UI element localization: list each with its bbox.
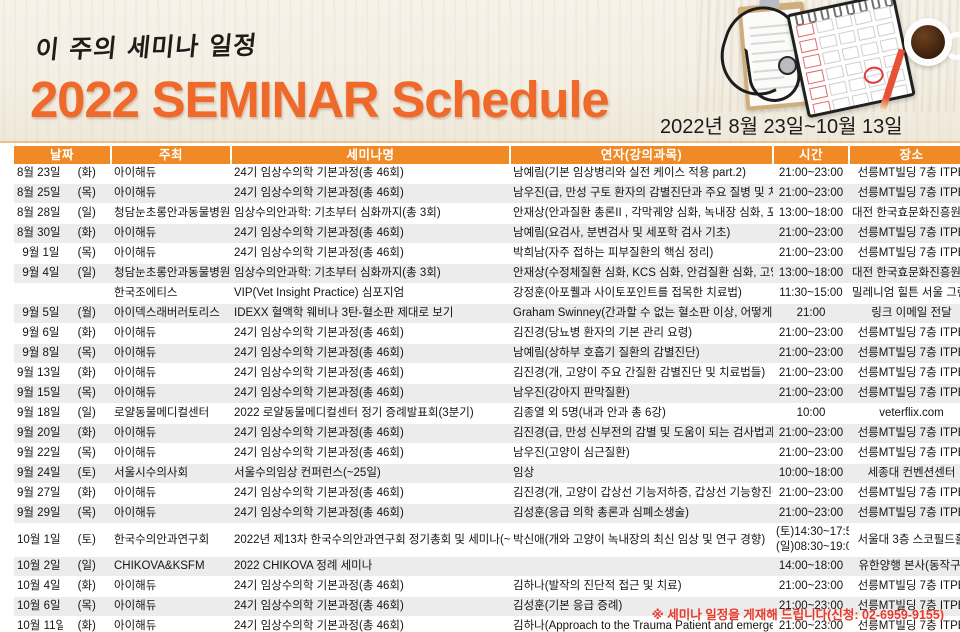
cell-seminar-name: 24기 임상수의학 기본과정(총 46회) (231, 424, 510, 444)
col-header-host: 주최 (111, 146, 231, 164)
cell-time: 21:00~23:00 (773, 364, 849, 384)
cell-seminar-name: 24기 임상수의학 기본과정(총 46회) (231, 364, 510, 384)
cell-place: 선릉MT빌딩 7층 ITPE (849, 504, 960, 524)
cell-seminar-name: 24기 임상수의학 기본과정(총 46회) (231, 184, 510, 204)
cell-day-of-week: (일) (63, 404, 112, 424)
cell-day-of-week: (목) (63, 344, 112, 364)
cell-date: 10월 6일 (14, 597, 63, 617)
cell-time: 21:00~23:00 (773, 184, 849, 204)
cell-time: 21:00~23:00 (773, 424, 849, 444)
table-header-row: 날짜 주최 세미나명 연자(강의과목) 시간 장소 문의 (14, 146, 960, 164)
table-row[interactable]: 9월 22일(목)아이해듀24기 임상수의학 기본과정(총 46회)남우진(고양… (14, 444, 960, 464)
cell-date: 9월 6일 (14, 324, 63, 344)
cell-place: 선릉MT빌딩 7층 ITPE (849, 164, 960, 184)
cell-place: 선릉MT빌딩 7층 ITPE (849, 484, 960, 504)
cell-seminar-name: 24기 임상수의학 기본과정(총 46회) (231, 444, 510, 464)
page-banner: 이 주의 세미나 일정 2022 SEMINAR Schedule 2022년 … (0, 0, 960, 143)
cell-date: 9월 24일 (14, 464, 63, 484)
cell-host: 아이해듀 (111, 384, 231, 404)
cell-seminar-name: 2022년 제13차 한국수의안과연구회 정기총회 및 세미나(~2일) (231, 524, 510, 557)
cell-place: 유한양행 본사(동작구) (849, 557, 960, 577)
cell-host: 아이덱스래버러토리스 (111, 304, 231, 324)
cell-host: 아이해듀 (111, 364, 231, 384)
cell-day-of-week: (목) (63, 504, 112, 524)
cell-seminar-name: 24기 임상수의학 기본과정(총 46회) (231, 617, 510, 632)
cell-day-of-week: (목) (63, 597, 112, 617)
cell-seminar-name: 24기 임상수의학 기본과정(총 46회) (231, 597, 510, 617)
cell-date: 8월 23일 (14, 164, 63, 184)
cell-date: 9월 4일 (14, 264, 63, 284)
cell-time: 21:00~23:00 (773, 504, 849, 524)
col-header-time: 시간 (773, 146, 849, 164)
col-header-lecturer: 연자(강의과목) (510, 146, 773, 164)
cell-host: 아이해듀 (111, 484, 231, 504)
cell-lecturer: 임상 (510, 464, 773, 484)
cup-handle (944, 32, 960, 60)
cell-host: 아이해듀 (111, 344, 231, 364)
cell-place: 선릉MT빌딩 7층 ITPE (849, 444, 960, 464)
cell-place: 선릉MT빌딩 7층 ITPE (849, 364, 960, 384)
cell-place: 선릉MT빌딩 7층 ITPE (849, 424, 960, 444)
cell-seminar-name: 24기 임상수의학 기본과정(총 46회) (231, 484, 510, 504)
cell-date: 9월 13일 (14, 364, 63, 384)
cell-seminar-name: 24기 임상수의학 기본과정(총 46회) (231, 224, 510, 244)
cell-lecturer: 남예림(기본 임상병리와 실전 케이스 적용 part.2) (510, 164, 773, 184)
cell-place: 밀레니엄 힐튼 서울 그랜드볼룸 (849, 284, 960, 304)
table-row[interactable]: 9월 8일(목)아이해듀24기 임상수의학 기본과정(총 46회)남예림(상하부… (14, 344, 960, 364)
cell-seminar-name: 24기 임상수의학 기본과정(총 46회) (231, 344, 510, 364)
cell-time: 11:30~15:00 (773, 284, 849, 304)
cell-seminar-name: 2022 로얄동물메디컬센터 정기 증례발표회(3분기) (231, 404, 510, 424)
cell-time: 21:00~23:00 (773, 224, 849, 244)
cell-date: 10월 4일 (14, 577, 63, 597)
cell-lecturer: 남우진(고양이 심근질환) (510, 444, 773, 464)
cell-host: 청담눈초롱안과동물병원 (111, 264, 231, 284)
table-row[interactable]: 8월 25일(목)아이해듀24기 임상수의학 기본과정(총 46회)남우진(급,… (14, 184, 960, 204)
cell-day-of-week: (화) (63, 164, 112, 184)
cell-date: 8월 30일 (14, 224, 63, 244)
cell-lecturer: 김진경(당뇨병 환자의 기본 관리 요령) (510, 324, 773, 344)
page-title: 2022 SEMINAR Schedule (30, 70, 609, 129)
cell-lecturer: 남우진(급, 만성 구토 환자의 감별진단과 주요 질병 및 치료법들) (510, 184, 773, 204)
cell-lecturer: 남예림(상하부 호흡기 질환의 감별진단) (510, 344, 773, 364)
cell-seminar-name: 24기 임상수의학 기본과정(총 46회) (231, 384, 510, 404)
table-row[interactable]: 9월 6일(화)아이해듀24기 임상수의학 기본과정(총 46회)김진경(당뇨병… (14, 324, 960, 344)
cell-day-of-week: (화) (63, 617, 112, 632)
cell-host: 아이해듀 (111, 504, 231, 524)
table-row[interactable]: 8월 23일(화)아이해듀24기 임상수의학 기본과정(총 46회)남예림(기본… (14, 164, 960, 184)
cell-date: 9월 1일 (14, 244, 63, 264)
cell-date: 9월 22일 (14, 444, 63, 464)
cell-seminar-name: 24기 임상수의학 기본과정(총 46회) (231, 324, 510, 344)
cell-place: 링크 이메일 전달 (849, 304, 960, 324)
cell-time: 10:00~18:00 (773, 464, 849, 484)
cell-place: veterflix.com (849, 404, 960, 424)
table-row[interactable]: 9월 24일(토)서울시수의사회서울수의임상 컨퍼런스(~25일)임상10:00… (14, 464, 960, 484)
cell-host: 아이해듀 (111, 617, 231, 632)
cell-date: 9월 20일 (14, 424, 63, 444)
cell-seminar-name: VIP(Vet Insight Practice) 심포지엄 (231, 284, 510, 304)
cell-place: 선릉MT빌딩 7층 ITPE (849, 224, 960, 244)
cell-seminar-name: 24기 임상수의학 기본과정(총 46회) (231, 244, 510, 264)
cell-seminar-name: 임상수의안과학: 기초부터 심화까지(총 3회) (231, 204, 510, 224)
cell-day-of-week: (일) (63, 204, 112, 224)
cell-lecturer: 김진경(급, 만성 신부전의 감별 및 도움이 되는 검사법과 관리 요령) (510, 424, 773, 444)
cell-time: 13:00~18:00 (773, 204, 849, 224)
cell-date: 8월 25일 (14, 184, 63, 204)
coffee-liquid (911, 25, 945, 59)
cell-day-of-week: (월) (63, 304, 112, 324)
cell-day-of-week: (화) (63, 224, 112, 244)
cell-host: 아이해듀 (111, 424, 231, 444)
cell-day-of-week: (일) (63, 557, 112, 577)
cell-place: 세종대 컨벤션센터 (849, 464, 960, 484)
cell-day-of-week: (목) (63, 444, 112, 464)
cell-time: 21:00~23:00 (773, 444, 849, 464)
cell-place: 서울대 3층 스코필드홀 (849, 524, 960, 557)
schedule-table: 날짜 주최 세미나명 연자(강의과목) 시간 장소 문의 8월 23일(화)아이… (14, 146, 960, 632)
cell-time: 21:00~23:00 (773, 577, 849, 597)
cell-time: 13:00~18:00 (773, 264, 849, 284)
cell-time: 21:00~23:00 (773, 324, 849, 344)
table-row[interactable]: 한국조에티스VIP(Vet Insight Practice) 심포지엄강정훈(… (14, 284, 960, 304)
cell-host: 로얄동물메디컬센터 (111, 404, 231, 424)
cell-host: 아이해듀 (111, 224, 231, 244)
cell-lecturer: Graham Swinney(간과할 수 없는 혈소판 이상, 어떻게 진료할까… (510, 304, 773, 324)
cell-day-of-week: (화) (63, 484, 112, 504)
cell-day-of-week: (일) (63, 264, 112, 284)
cell-lecturer (510, 557, 773, 577)
cell-date: 10월 1일 (14, 524, 63, 557)
cell-host: 서울시수의사회 (111, 464, 231, 484)
cell-seminar-name: 24기 임상수의학 기본과정(총 46회) (231, 164, 510, 184)
cell-host: 아이해듀 (111, 164, 231, 184)
table-row[interactable]: 9월 29일(목)아이해듀24기 임상수의학 기본과정(총 46회)김성훈(응급… (14, 504, 960, 524)
cell-seminar-name: 24기 임상수의학 기본과정(총 46회) (231, 577, 510, 597)
cell-place: 선릉MT빌딩 7층 ITPE (849, 184, 960, 204)
cell-lecturer: 박신애(개와 고양이 녹내장의 최신 임상 및 연구 경향) (510, 524, 773, 557)
table-row[interactable]: 9월 18일(일)로얄동물메디컬센터2022 로얄동물메디컬센터 정기 증례발표… (14, 404, 960, 424)
cell-host: 아이해듀 (111, 244, 231, 264)
table-row[interactable]: 8월 30일(화)아이해듀24기 임상수의학 기본과정(총 46회)남예림(요검… (14, 224, 960, 244)
cell-time: 21:00~23:00 (773, 484, 849, 504)
cell-seminar-name: IDEXX 혈액학 웨비나 3탄-혈소판 제대로 보기 (231, 304, 510, 324)
cell-host: 한국수의안과연구회 (111, 524, 231, 557)
cell-day-of-week: (토) (63, 524, 112, 557)
col-header-place: 장소 (849, 146, 960, 164)
cell-date: 9월 27일 (14, 484, 63, 504)
cell-place: 대전 한국효문화진흥원 별관 2층 (849, 264, 960, 284)
cell-seminar-name: 24기 임상수의학 기본과정(총 46회) (231, 504, 510, 524)
table-row[interactable]: 10월 2일(일)CHIKOVA&KSFM2022 CHIKOVA 정례 세미나… (14, 557, 960, 577)
cell-lecturer: 안재상(안과질환 총론II , 각막궤양 심화, 녹내장 심화, 포도막염 심화… (510, 204, 773, 224)
cell-time: 14:00~18:00 (773, 557, 849, 577)
cell-place: 선릉MT빌딩 7층 ITPE (849, 384, 960, 404)
cell-lecturer: 강정훈(아포퀠과 사이토포인트를 접목한 치료법) (510, 284, 773, 304)
coffee-cup-icon (904, 18, 952, 66)
date-range-label: 2022년 8월 23일~10월 13일 (660, 110, 903, 139)
cell-lecturer: 김성훈(응급 의학 총론과 심폐소생술) (510, 504, 773, 524)
cell-day-of-week: (목) (63, 184, 112, 204)
cell-lecturer: 김진경(개, 고양이 갑상선 기능저하증, 갑상선 기능항진증) (510, 484, 773, 504)
cell-seminar-name: 2022 CHIKOVA 정례 세미나 (231, 557, 510, 577)
table-row[interactable]: 9월 15일(목)아이해듀24기 임상수의학 기본과정(총 46회)남우진(강아… (14, 384, 960, 404)
cell-day-of-week: (화) (63, 364, 112, 384)
table-row[interactable]: 9월 4일(일)청담눈초롱안과동물병원임상수의안과학: 기초부터 심화까지(총 … (14, 264, 960, 284)
table-row[interactable]: 9월 13일(화)아이해듀24기 임상수의학 기본과정(총 46회)김진경(개,… (14, 364, 960, 384)
cell-date: 8월 28일 (14, 204, 63, 224)
table-row[interactable]: 10월 4일(화)아이해듀24기 임상수의학 기본과정(총 46회)김하나(발작… (14, 577, 960, 597)
cell-lecturer: 김종열 외 5명(내과 안과 총 6강) (510, 404, 773, 424)
cell-host: 아이해듀 (111, 597, 231, 617)
cell-lecturer: 안재상(수정체질환 심화, KCS 심화, 안검질환 심화, 고양이 안과학) (510, 264, 773, 284)
table-row[interactable]: 9월 20일(화)아이해듀24기 임상수의학 기본과정(총 46회)김진경(급,… (14, 424, 960, 444)
table-row[interactable]: 10월 1일(토)한국수의안과연구회2022년 제13차 한국수의안과연구회 정… (14, 524, 960, 557)
cell-day-of-week: (목) (63, 244, 112, 264)
cell-time: 21:00~23:00 (773, 244, 849, 264)
cell-place: 대전 한국효문화진흥원 별관 2층 (849, 204, 960, 224)
cell-date: 9월 15일 (14, 384, 63, 404)
seminar-schedule-page: 이 주의 세미나 일정 2022 SEMINAR Schedule 2022년 … (0, 0, 960, 632)
col-header-date: 날짜 (14, 146, 111, 164)
cell-day-of-week: (목) (63, 384, 112, 404)
cell-lecturer: 김진경(개, 고양이 주요 간질환 감별진단 및 치료법들) (510, 364, 773, 384)
cell-time: 21:00~23:00 (773, 344, 849, 364)
cell-place: 선릉MT빌딩 7층 ITPE (849, 344, 960, 364)
cell-day-of-week (63, 284, 112, 304)
cell-lecturer: 박희남(자주 접하는 피부질환의 핵심 정리) (510, 244, 773, 264)
cell-day-of-week: (토) (63, 464, 112, 484)
cell-seminar-name: 서울수의임상 컨퍼런스(~25일) (231, 464, 510, 484)
cell-day-of-week: (화) (63, 424, 112, 444)
cell-day-of-week: (화) (63, 577, 112, 597)
banner-kicker: 이 주의 세미나 일정 (34, 26, 259, 67)
cell-host: CHIKOVA&KSFM (111, 557, 231, 577)
cell-lecturer: 남우진(강아지 판막질환) (510, 384, 773, 404)
table-row[interactable]: 9월 1일(목)아이해듀24기 임상수의학 기본과정(총 46회)박희남(자주 … (14, 244, 960, 264)
header-photo (696, 0, 960, 112)
cell-date: 9월 5일 (14, 304, 63, 324)
cell-seminar-name: 임상수의안과학: 기초부터 심화까지(총 3회) (231, 264, 510, 284)
banner-divider (0, 141, 960, 143)
stethoscope-bell-icon (778, 56, 797, 75)
cell-host: 아이해듀 (111, 324, 231, 344)
cell-day-of-week: (화) (63, 324, 112, 344)
cell-host: 아이해듀 (111, 184, 231, 204)
cell-place: 선릉MT빌딩 7층 ITPE (849, 324, 960, 344)
cell-host: 한국조에티스 (111, 284, 231, 304)
table-row[interactable]: 9월 27일(화)아이해듀24기 임상수의학 기본과정(총 46회)김진경(개,… (14, 484, 960, 504)
col-header-seminar-name: 세미나명 (231, 146, 510, 164)
cell-date: 10월 2일 (14, 557, 63, 577)
cell-date: 9월 18일 (14, 404, 63, 424)
cell-time: 21:00~23:00 (773, 384, 849, 404)
cell-date: 9월 8일 (14, 344, 63, 364)
cell-host: 아이해듀 (111, 444, 231, 464)
cell-host: 청담눈초롱안과동물병원 (111, 204, 231, 224)
cell-lecturer: 김하나(발작의 진단적 접근 및 치료) (510, 577, 773, 597)
footnote-text: ※ 세미나 일정을 게재해 드립니다(신청: 02-6959-9155) (652, 604, 944, 623)
cell-time: 10:00 (773, 404, 849, 424)
cell-time: (토)14:30~17:50(일)08:30~19:00 (773, 524, 849, 557)
table-row[interactable]: 9월 5일(월)아이덱스래버러토리스IDEXX 혈액학 웨비나 3탄-혈소판 제… (14, 304, 960, 324)
cell-time: 21:00 (773, 304, 849, 324)
table-row[interactable]: 8월 28일(일)청담눈초롱안과동물병원임상수의안과학: 기초부터 심화까지(총… (14, 204, 960, 224)
cell-lecturer: 남예림(요검사, 분변검사 및 세포학 검사 기초) (510, 224, 773, 244)
cell-time: 21:00~23:00 (773, 164, 849, 184)
cell-date: 10월 11일 (14, 617, 63, 632)
cell-date: 9월 29일 (14, 504, 63, 524)
cell-place: 선릉MT빌딩 7층 ITPE (849, 577, 960, 597)
cell-date (14, 284, 63, 304)
cell-place: 선릉MT빌딩 7층 ITPE (849, 244, 960, 264)
cell-host: 아이해듀 (111, 577, 231, 597)
schedule-table-body: 8월 23일(화)아이해듀24기 임상수의학 기본과정(총 46회)남예림(기본… (14, 164, 960, 632)
